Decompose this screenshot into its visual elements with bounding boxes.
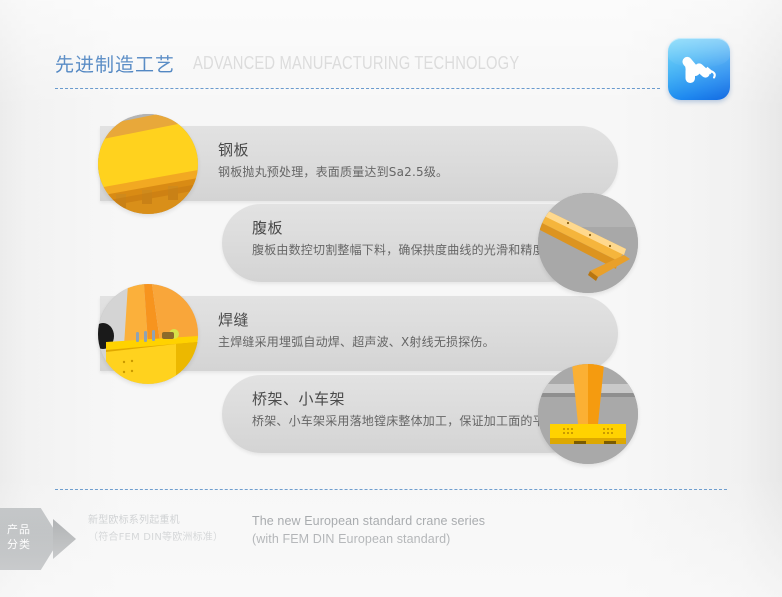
card-title: 钢板 xyxy=(218,140,448,160)
feature-card-list: 钢板 钢板抛丸预处理，表面质量达到Sa2.5级。 腹板 腹板由数控切割整幅下料，… xyxy=(0,0,782,597)
card-thumbnail-weld-seam xyxy=(98,284,198,384)
card-title: 桥架、小车架 xyxy=(252,389,581,409)
yellow-web-plate-beam-photo xyxy=(538,193,638,293)
feature-card[interactable]: 桥架、小车架 桥架、小车架采用落地镗床整体加工，保证加工面的平面度。 xyxy=(222,375,588,453)
footer-divider xyxy=(55,489,727,490)
card-title: 腹板 xyxy=(252,218,557,238)
page-root: 先进制造工艺 ADVANCED MANUFACTURING TECHNOLOGY xyxy=(0,0,782,597)
yellow-bridge-trolley-frame-photo xyxy=(538,364,638,464)
product-category-tab[interactable]: 产品 分类 xyxy=(0,508,60,570)
card-thumbnail-web-plate xyxy=(538,193,638,293)
card-text-block: 桥架、小车架 桥架、小车架采用落地镗床整体加工，保证加工面的平面度。 xyxy=(252,389,581,430)
card-thumbnail-bridge-frame xyxy=(538,364,638,464)
card-description: 腹板由数控切割整幅下料，确保拱度曲线的光滑和精度。 xyxy=(252,242,557,259)
footer-en-line2: (with FEM DIN European standard) xyxy=(252,530,572,548)
footer-cn-line1: 新型欧标系列起重机 xyxy=(88,512,238,529)
yellow-steel-plate-photo xyxy=(98,114,198,214)
footer-caption-en: The new European standard crane series (… xyxy=(252,512,572,548)
category-tab-label-line2: 分类 xyxy=(7,537,41,552)
card-text-block: 焊缝 主焊缝采用埋弧自动焊、超声波、X射线无损探伤。 xyxy=(218,310,495,351)
card-description: 主焊缝采用埋弧自动焊、超声波、X射线无损探伤。 xyxy=(218,334,495,351)
footer-en-line1: The new European standard crane series xyxy=(252,512,572,530)
footer-caption-cn: 新型欧标系列起重机 （符合FEM DIN等欧洲标准） xyxy=(88,512,238,546)
card-title: 焊缝 xyxy=(218,310,495,330)
yellow-weld-seam-photo xyxy=(98,284,198,384)
card-thumbnail-steel-plate xyxy=(98,114,198,214)
feature-card[interactable]: 腹板 腹板由数控切割整幅下料，确保拱度曲线的光滑和精度。 xyxy=(222,204,588,282)
category-tab-label-line1: 产品 xyxy=(7,522,41,537)
footer-cn-line2: （符合FEM DIN等欧洲标准） xyxy=(88,529,238,546)
category-arrow-icon xyxy=(53,519,76,559)
card-text-block: 腹板 腹板由数控切割整幅下料，确保拱度曲线的光滑和精度。 xyxy=(252,218,557,259)
category-tab-label: 产品 分类 xyxy=(7,522,41,552)
card-description: 钢板抛丸预处理，表面质量达到Sa2.5级。 xyxy=(218,164,448,181)
card-description: 桥架、小车架采用落地镗床整体加工，保证加工面的平面度。 xyxy=(252,413,581,430)
card-text-block: 钢板 钢板抛丸预处理，表面质量达到Sa2.5级。 xyxy=(218,140,448,181)
